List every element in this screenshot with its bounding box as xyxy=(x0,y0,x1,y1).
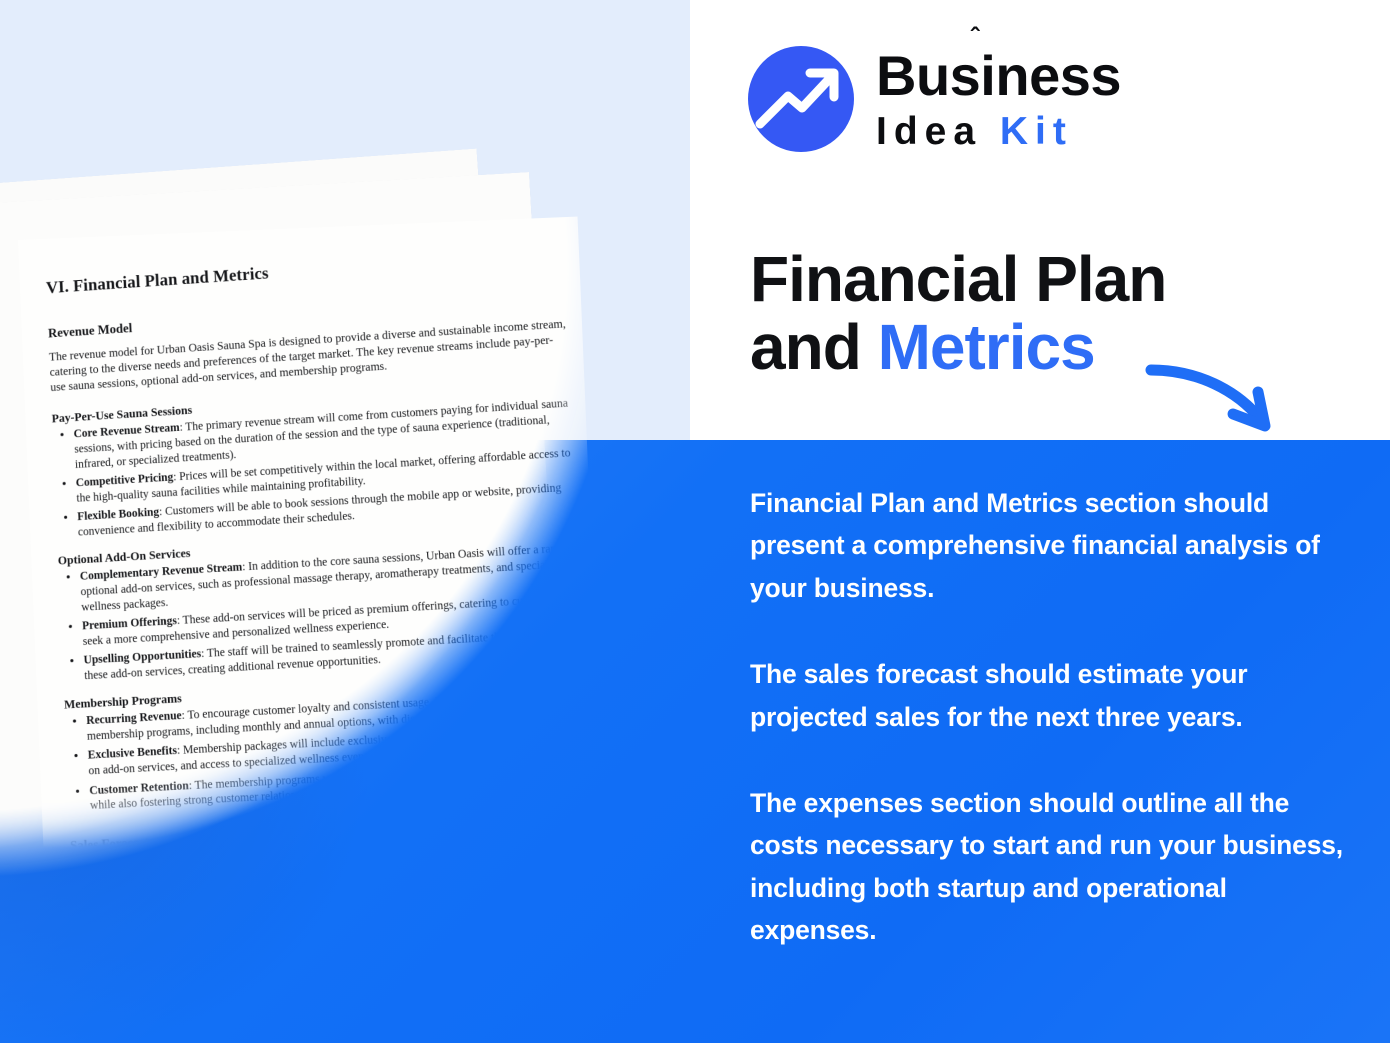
brand-name-line1: Busîness xyxy=(876,48,1121,104)
document-bullet-term: Flexible Booking xyxy=(77,506,159,523)
copy-paragraph-1: Financial Plan and Metrics section shoul… xyxy=(750,482,1350,609)
sales-forecast-block: Sales Forecast The sales forecast for Ur… xyxy=(70,812,607,926)
copy-paragraph-3: The expenses section should outline all … xyxy=(750,782,1350,952)
page-title-line1: Financial Plan xyxy=(750,245,1350,313)
document-stack: V Re The inc stre Pay Op M VI. Financial… xyxy=(0,0,760,1043)
brand-logo[interactable]: Busîness Idea Kit xyxy=(748,46,1121,152)
brand-wordmark: Busîness Idea Kit xyxy=(876,48,1121,151)
description-copy: Financial Plan and Metrics section shoul… xyxy=(750,482,1350,952)
copy-paragraph-2: The sales forecast should estimate your … xyxy=(750,653,1350,738)
document-bullet-term: Upselling Opportunities xyxy=(83,648,201,667)
document-groups: Pay-Per-Use Sauna SessionsCore Revenue S… xyxy=(51,380,598,815)
page-title-accent: Metrics xyxy=(878,311,1095,383)
document-bullet-term: Recurring Revenue xyxy=(86,710,182,728)
brand-name-line2: Idea Kit xyxy=(876,112,1121,151)
document-bullet-term: Competitive Pricing xyxy=(76,471,174,489)
document-bullet-term: Exclusive Benefits xyxy=(88,745,178,762)
brand-kit-text: Kit xyxy=(1000,110,1073,153)
curved-arrow-down-right-icon xyxy=(1145,352,1295,438)
slide-canvas: V Re The inc stre Pay Op M VI. Financial… xyxy=(0,0,1390,1043)
page-title-and: and xyxy=(750,311,878,383)
document-bullet-term: Premium Offerings xyxy=(82,615,177,633)
growth-chart-circle-icon xyxy=(748,46,854,152)
document-page-front: VI. Financial Plan and Metrics Revenue M… xyxy=(18,217,609,1000)
document-title: VI. Financial Plan and Metrics xyxy=(46,243,564,298)
brand-idea-text: Idea xyxy=(876,110,1000,153)
document-bullet-term: Customer Retention xyxy=(89,779,189,797)
document-bullet-term: Core Revenue Stream xyxy=(73,422,180,441)
